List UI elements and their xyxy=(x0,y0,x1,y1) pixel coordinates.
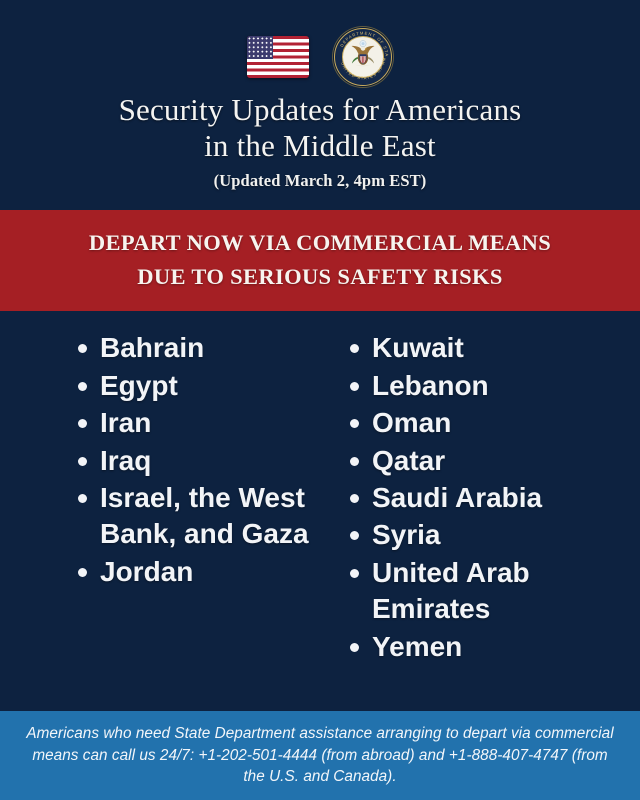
bullet-icon xyxy=(78,382,87,391)
alert-banner-line-1: DEPART NOW VIA COMMERCIAL MEANS xyxy=(18,226,622,260)
footer-contact-banner: Americans who need State Department assi… xyxy=(0,711,640,800)
emblem-row: DEPARTMENT OF STATE UNITED STATES OF AME… xyxy=(0,26,640,88)
title-block: Security Updates for Americans in the Mi… xyxy=(0,88,640,191)
bullet-icon xyxy=(78,568,87,577)
bullet-icon xyxy=(350,382,359,391)
country-name: Qatar xyxy=(372,443,445,479)
country-name: Saudi Arabia xyxy=(372,480,542,516)
country-name: Kuwait xyxy=(372,330,464,366)
list-item: Jordan xyxy=(78,554,336,590)
bullet-icon xyxy=(350,344,359,353)
bullet-icon xyxy=(350,569,359,578)
list-item: Lebanon xyxy=(350,368,640,404)
flag-stars xyxy=(248,37,272,58)
country-lists: Bahrain Egypt Iran Iraq Israel, the West… xyxy=(0,311,640,711)
department-of-state-seal-icon: DEPARTMENT OF STATE UNITED STATES OF AME… xyxy=(333,27,393,87)
list-item: United Arab Emirates xyxy=(350,555,640,628)
list-item: Qatar xyxy=(350,443,640,479)
bullet-icon xyxy=(78,419,87,428)
country-name: Yemen xyxy=(372,629,462,665)
country-name: Egypt xyxy=(100,368,178,404)
alert-banner: DEPART NOW VIA COMMERCIAL MEANS DUE TO S… xyxy=(0,210,640,312)
footer-contact-text: Americans who need State Department assi… xyxy=(24,723,616,788)
last-updated-text: (Updated March 2, 4pm EST) xyxy=(20,171,620,191)
list-item: Iran xyxy=(78,405,336,441)
country-name: Bahrain xyxy=(100,330,204,366)
bullet-icon xyxy=(78,344,87,353)
country-list-left: Bahrain Egypt Iran Iraq Israel, the West… xyxy=(0,330,336,591)
country-name: Syria xyxy=(372,517,441,553)
list-item: Oman xyxy=(350,405,640,441)
list-item: Yemen xyxy=(350,629,640,665)
country-list-right: Kuwait Lebanon Oman Qatar Saudi Arabia S… xyxy=(336,330,640,666)
list-item: Saudi Arabia xyxy=(350,480,640,516)
list-item: Iraq xyxy=(78,443,336,479)
country-name: United Arab Emirates xyxy=(372,555,640,628)
security-update-poster: DEPARTMENT OF STATE UNITED STATES OF AME… xyxy=(0,0,640,800)
country-name: Iraq xyxy=(100,443,151,479)
poster-header: DEPARTMENT OF STATE UNITED STATES OF AME… xyxy=(0,0,640,201)
country-name: Iran xyxy=(100,405,151,441)
list-item: Israel, the West Bank, and Gaza xyxy=(78,480,336,553)
page-title: Security Updates for Americans in the Mi… xyxy=(20,92,620,164)
bullet-icon xyxy=(350,643,359,652)
bullet-icon xyxy=(78,494,87,503)
country-name: Oman xyxy=(372,405,451,441)
bullet-icon xyxy=(78,457,87,466)
list-item: Egypt xyxy=(78,368,336,404)
bullet-icon xyxy=(350,419,359,428)
country-name: Israel, the West Bank, and Gaza xyxy=(100,480,336,553)
bullet-icon xyxy=(350,494,359,503)
bullet-icon xyxy=(350,457,359,466)
title-line-2: in the Middle East xyxy=(204,128,436,163)
list-item: Bahrain xyxy=(78,330,336,366)
bullet-icon xyxy=(350,531,359,540)
country-name: Jordan xyxy=(100,554,193,590)
us-flag-icon xyxy=(247,36,309,78)
flag-canton xyxy=(247,36,273,59)
list-item: Syria xyxy=(350,517,640,553)
list-item: Kuwait xyxy=(350,330,640,366)
alert-banner-line-2: DUE TO SERIOUS SAFETY RISKS xyxy=(18,260,622,294)
title-line-1: Security Updates for Americans xyxy=(119,92,522,127)
country-name: Lebanon xyxy=(372,368,489,404)
